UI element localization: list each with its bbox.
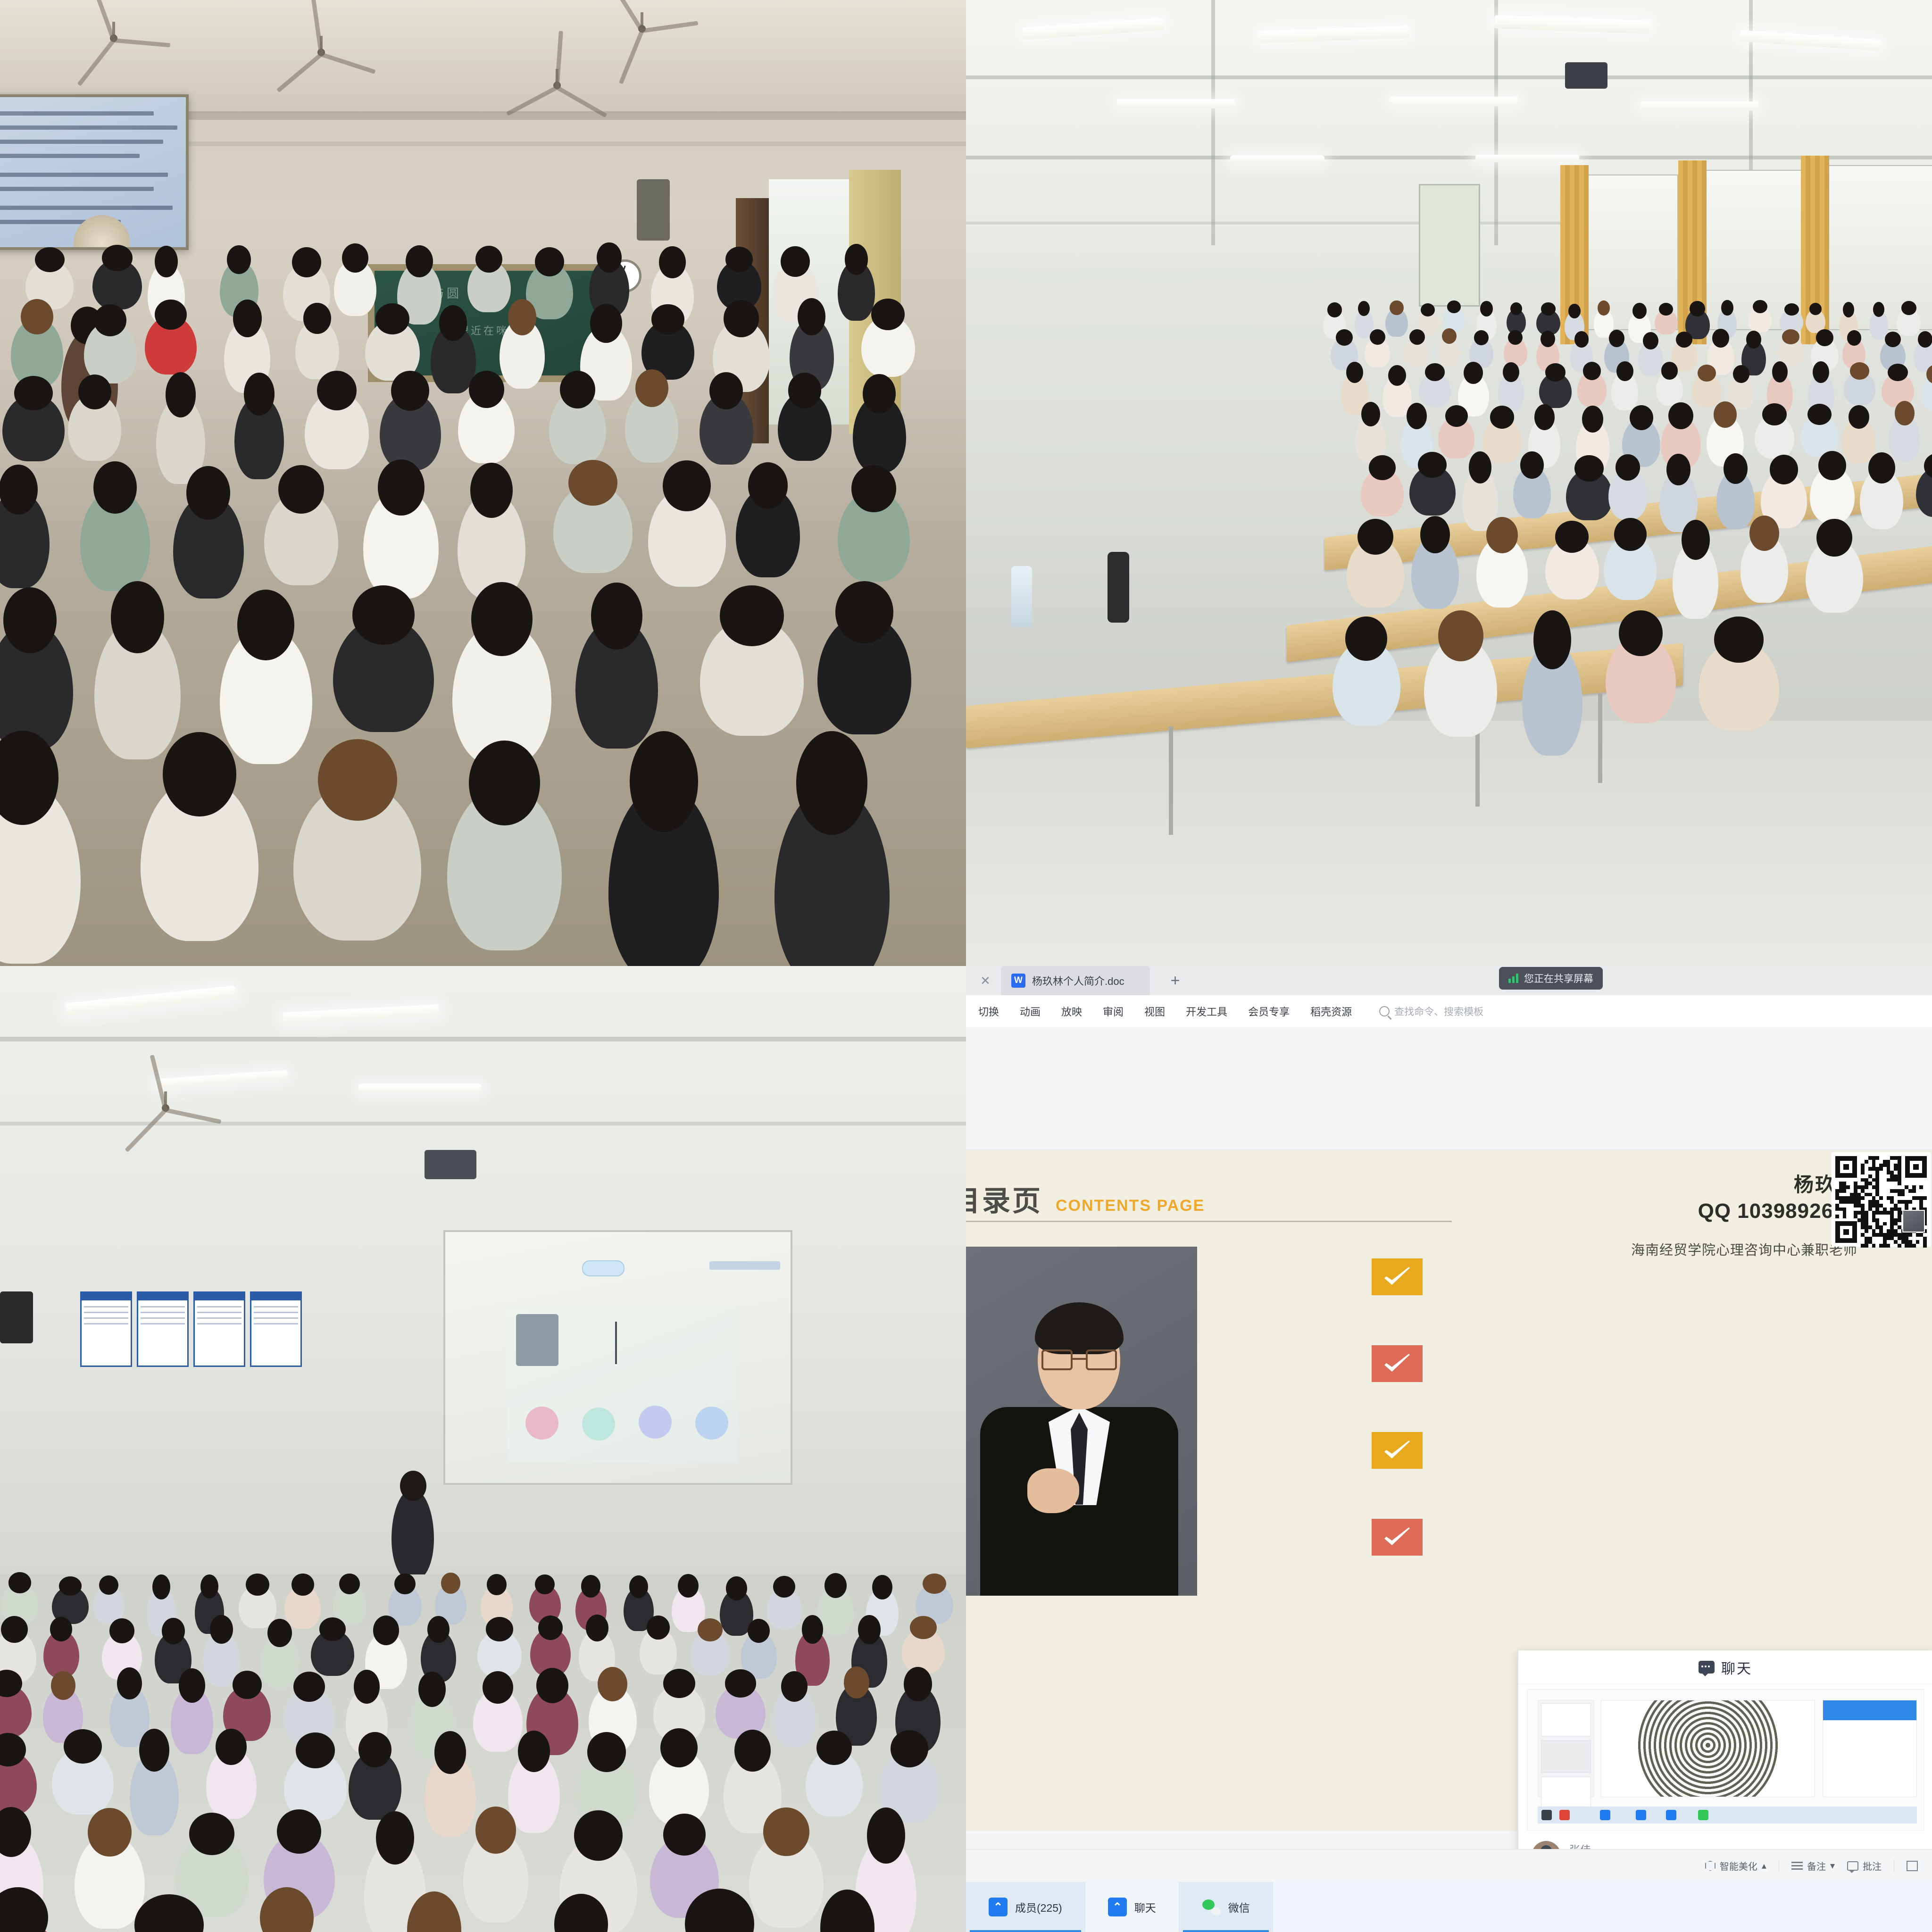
shared-screen-thumbnail [1527,1689,1924,1831]
ceiling-fan-icon [557,85,557,85]
wall-poster [250,1291,302,1367]
wps-writer-icon: W [1011,974,1025,988]
check-badge [1372,1345,1423,1382]
search-placeholder: 查找命令、搜索模板 [1394,1004,1483,1018]
taskbar-label: 成员(225) [1015,1899,1062,1915]
portrait-photo [966,1247,1197,1596]
qr-code [1832,1152,1931,1247]
taskbar-label: 聊天 [1134,1899,1156,1915]
light-tube [1230,156,1324,163]
ceiling-fan-icon [113,38,114,38]
signal-bars-icon [1508,974,1518,983]
active-indicator [970,1930,1081,1932]
taskbar-item-chat[interactable]: ⌃ 聊天 [1085,1882,1179,1932]
taskbar-item-members[interactable]: ⌃ 成员(225) [966,1882,1085,1932]
wall-speaker [0,1291,33,1343]
menu-item-slideshow[interactable]: 放映 [1061,1004,1082,1019]
ceiling-line [1211,0,1215,245]
screen-share-badge: 您正在共享屏幕 [1499,967,1603,990]
menu-item-docer[interactable]: 稻壳资源 [1310,1004,1352,1019]
menu-item-view[interactable]: 视图 [1144,1004,1165,1019]
slide-heading: 目录页 CONTENTS PAGE [966,1178,1205,1219]
notes-icon [1791,1862,1803,1870]
wall-poster [193,1291,245,1367]
projector [1565,62,1607,89]
check-icon [1382,1440,1412,1461]
menu-item-animation[interactable]: 动画 [1020,1004,1041,1019]
ceiling-line [966,156,1932,159]
slide-content [507,1307,738,1463]
check-badge [1372,1258,1423,1295]
light-tube [358,1084,481,1092]
slide-pill [582,1260,625,1276]
shared-taskbar [1538,1807,1917,1824]
active-indicator [1183,1930,1269,1932]
divider [1779,1860,1779,1872]
menu-item-member[interactable]: 会员专享 [1248,1004,1290,1019]
ceiling-line [1494,0,1498,245]
bench-leg [1169,726,1173,835]
spiral-graphic [1637,1700,1779,1797]
person-info-block: 杨玖林 QQ 1039892658 海南经贸学院心理咨询中心兼职老师 [1593,1169,1857,1259]
check-badge [1372,1432,1423,1469]
command-search[interactable]: 查找命令、搜索模板 [1379,1004,1483,1018]
hall-door [1419,184,1480,307]
light-tube [1641,101,1758,111]
glasses-icon [1041,1349,1117,1370]
notes-label: 备注 [1807,1859,1826,1873]
meeting-icon: ⌃ [1108,1898,1127,1916]
wps-ribbon-area [966,1027,1932,1150]
chat-bubble-icon [1699,1661,1715,1674]
slide-title-cn: 目录页 [966,1178,1042,1219]
menu-item-developer[interactable]: 开发工具 [1186,1004,1227,1019]
hall-floor [966,721,1932,966]
slide-text [709,1261,780,1270]
wps-menu-bar: 切换 动画 放映 审阅 视图 开发工具 会员专享 稻壳资源 查找命令、搜索模板 [966,995,1932,1027]
shared-side-panel [1823,1700,1917,1797]
person-role: 海南经贸学院心理咨询中心兼职老师 [1593,1239,1857,1259]
projection-screen [443,1230,792,1485]
notes-button[interactable]: 备注 ▾ [1791,1859,1835,1873]
divider [1894,1860,1894,1872]
check-badge [1372,1519,1423,1556]
slide-canvas: 目录页 CONTENTS PAGE [966,1150,1932,1831]
person-name: 杨玖林 [1593,1169,1857,1198]
os-taskbar: ⌃ 成员(225) ⌃ 聊天 微信 [966,1882,1932,1932]
chat-panel-header: 聊天 [1518,1650,1932,1684]
photo-collage: 论方与圆 心理近在咪尺 [0,0,1932,1932]
qr-avatar [1902,1210,1925,1232]
portrait-hair [1035,1302,1124,1354]
tile-auditorium [0,966,966,1932]
check-icon [1382,1353,1412,1374]
ceiling-fan-icon [641,28,642,29]
light-tube [1475,155,1579,162]
menu-item-review[interactable]: 审阅 [1103,1004,1124,1019]
light-tube [1391,97,1518,106]
wall-poster [80,1291,132,1367]
view-mode-button[interactable] [1907,1861,1918,1871]
new-tab-button[interactable]: + [1171,973,1180,989]
normal-view-icon [1907,1861,1918,1871]
speaker-head [400,1471,426,1501]
comment-label: 批注 [1863,1859,1882,1873]
caret-down-icon[interactable]: ▾ [1830,1860,1835,1872]
beautify-button[interactable]: 智能美化 ▴ [1705,1859,1766,1873]
search-icon [1379,1006,1390,1016]
projector [425,1150,476,1179]
taskbar-item-wechat[interactable]: 微信 [1179,1882,1273,1932]
wps-status-bar: 智能美化 ▴ 备注 ▾ 批注 [966,1849,1932,1882]
person-qq: QQ 1039892658 [1593,1199,1857,1223]
projection-screen [0,94,189,250]
comment-icon [1847,1861,1858,1871]
chat-panel-title: 聊天 [1721,1657,1752,1678]
check-icon [1382,1266,1412,1288]
document-tab-title: 杨玖林个人简介.doc [1032,973,1124,988]
title-divider [966,1221,1452,1222]
ceiling-fan-icon [165,1108,166,1108]
ceiling-line [0,1037,966,1041]
wall-speaker [637,179,670,241]
ceiling-line [966,75,1932,79]
thermos-cup [1108,552,1129,623]
document-tab[interactable]: W 杨玖林个人简介.doc [1001,966,1150,995]
tile-classroom-blackboard: 论方与圆 心理近在咪尺 [0,0,966,966]
beautify-icon [1705,1861,1715,1871]
speaker-figure [391,1490,434,1579]
bench-leg [1598,693,1602,783]
water-bottle [1011,566,1032,627]
slide-filmstrip [1538,1700,1594,1797]
screen-share-label: 您正在共享屏幕 [1524,971,1593,985]
taskbar-label: 微信 [1228,1899,1250,1915]
wechat-icon [1202,1898,1221,1916]
menu-item-switch[interactable]: 切换 [978,1004,999,1019]
slide-title-en: CONTENTS PAGE [1056,1197,1205,1215]
comment-button[interactable]: 批注 [1847,1859,1882,1873]
beautify-label: 智能美化 [1720,1859,1757,1873]
checklist-badges [1372,1258,1423,1606]
ceiling-line [0,1122,966,1125]
wps-tab-bar: ✕ W 杨玖林个人简介.doc + 您正在共享屏幕 [966,966,1932,995]
wall-poster [137,1291,189,1367]
caret-up-icon[interactable]: ▴ [1762,1860,1766,1872]
qr-matrix [1835,1156,1927,1243]
tile-wps-screenshot: ✕ W 杨玖林个人简介.doc + 您正在共享屏幕 切换 动画 放映 审阅 视图… [966,966,1932,1932]
close-icon[interactable]: ✕ [977,973,993,989]
shared-slide-view [1601,1700,1815,1797]
portrait-hand [1027,1468,1079,1513]
meeting-icon: ⌃ [989,1898,1008,1916]
light-tube [1117,99,1235,108]
ceiling-fan-icon [321,52,321,52]
check-icon [1382,1526,1412,1548]
tile-lecture-hall [966,0,1932,966]
